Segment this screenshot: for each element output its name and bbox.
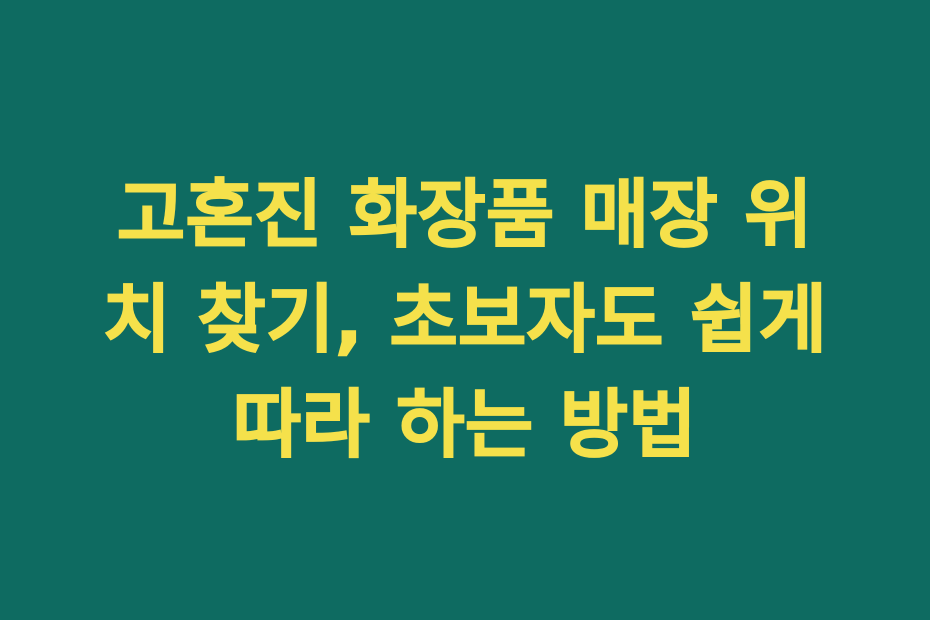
title-block: 고혼진 화장품 매장 위 치 찾기, 초보자도 쉽게 따라 하는 방법 [0, 163, 930, 478]
title-line-1: 고혼진 화장품 매장 위 [78, 163, 852, 268]
title-line-2: 치 찾기, 초보자도 쉽게 [78, 268, 852, 373]
poster-canvas: 고혼진 화장품 매장 위 치 찾기, 초보자도 쉽게 따라 하는 방법 [0, 0, 930, 620]
title-line-3: 따라 하는 방법 [78, 373, 852, 478]
